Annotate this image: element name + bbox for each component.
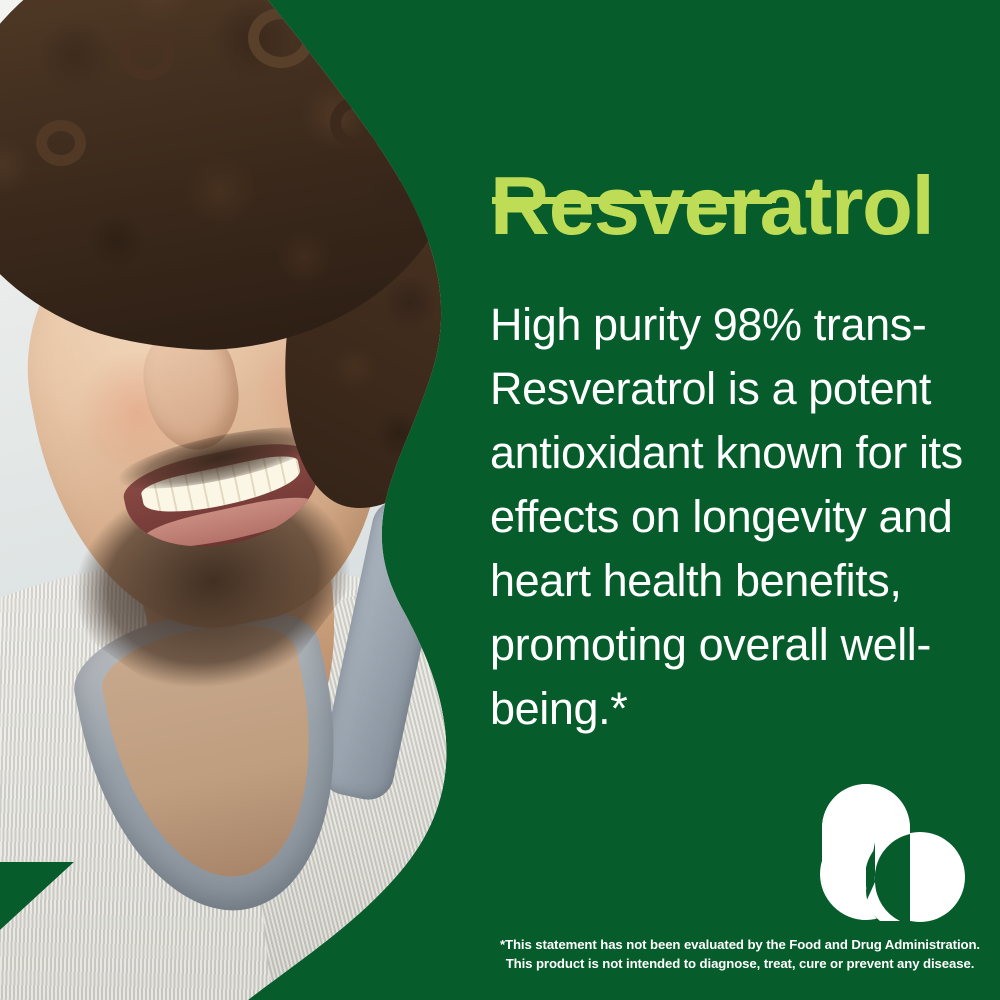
product-description: High purity 98% trans-Resveratrol is a p… — [490, 293, 990, 741]
disclaimer-line-1: *This statement has not been evaluated b… — [500, 937, 980, 952]
hair-curl — [330, 96, 388, 150]
lifestyle-photo — [0, 0, 480, 1000]
hair-curl — [120, 30, 174, 80]
disclaimer-line-2: This product is not intended to diagnose… — [490, 954, 990, 973]
hair-curl — [248, 8, 314, 68]
product-marketing-graphic: Resveratrol High purity 98% trans-Resver… — [0, 0, 1000, 1000]
capsule-and-circle-logo — [820, 782, 970, 927]
hair-curl — [36, 120, 86, 166]
fda-disclaimer: *This statement has not been evaluated b… — [490, 935, 990, 973]
title-underline-rule — [492, 197, 772, 204]
content-panel: Resveratrol High purity 98% trans-Resver… — [480, 0, 1000, 1000]
page-title: Resveratrol — [490, 164, 990, 247]
